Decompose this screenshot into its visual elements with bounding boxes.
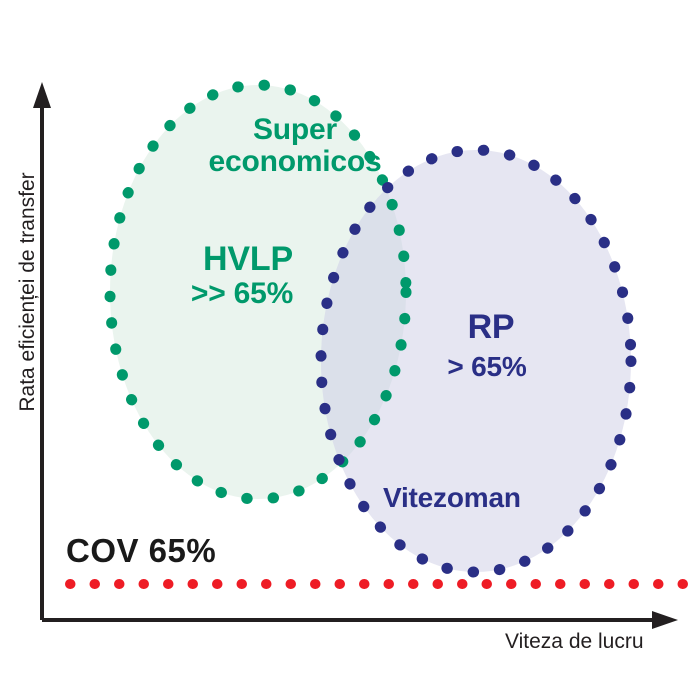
y-axis-label: Rata eficienței de transfer: [16, 132, 40, 452]
label-hvlp-title: HVLP: [168, 242, 328, 278]
label-rp-value: > 65%: [428, 352, 546, 381]
label-super-economicos: Super economicos: [182, 114, 408, 177]
y-axis-arrowhead: [33, 82, 51, 108]
venn-diagram-canvas: [0, 0, 700, 700]
x-axis-arrowhead: [652, 611, 678, 629]
label-hvlp-value: >> 65%: [162, 278, 322, 310]
label-cov-threshold: COV 65%: [66, 534, 216, 569]
x-axis-label: Viteza de lucru: [505, 630, 644, 654]
label-rp-title: RP: [436, 310, 546, 346]
venn-diagram-figure: Rata eficienței de transfer Viteza de lu…: [0, 0, 700, 700]
label-vitezoman: Vitezoman: [383, 483, 521, 512]
